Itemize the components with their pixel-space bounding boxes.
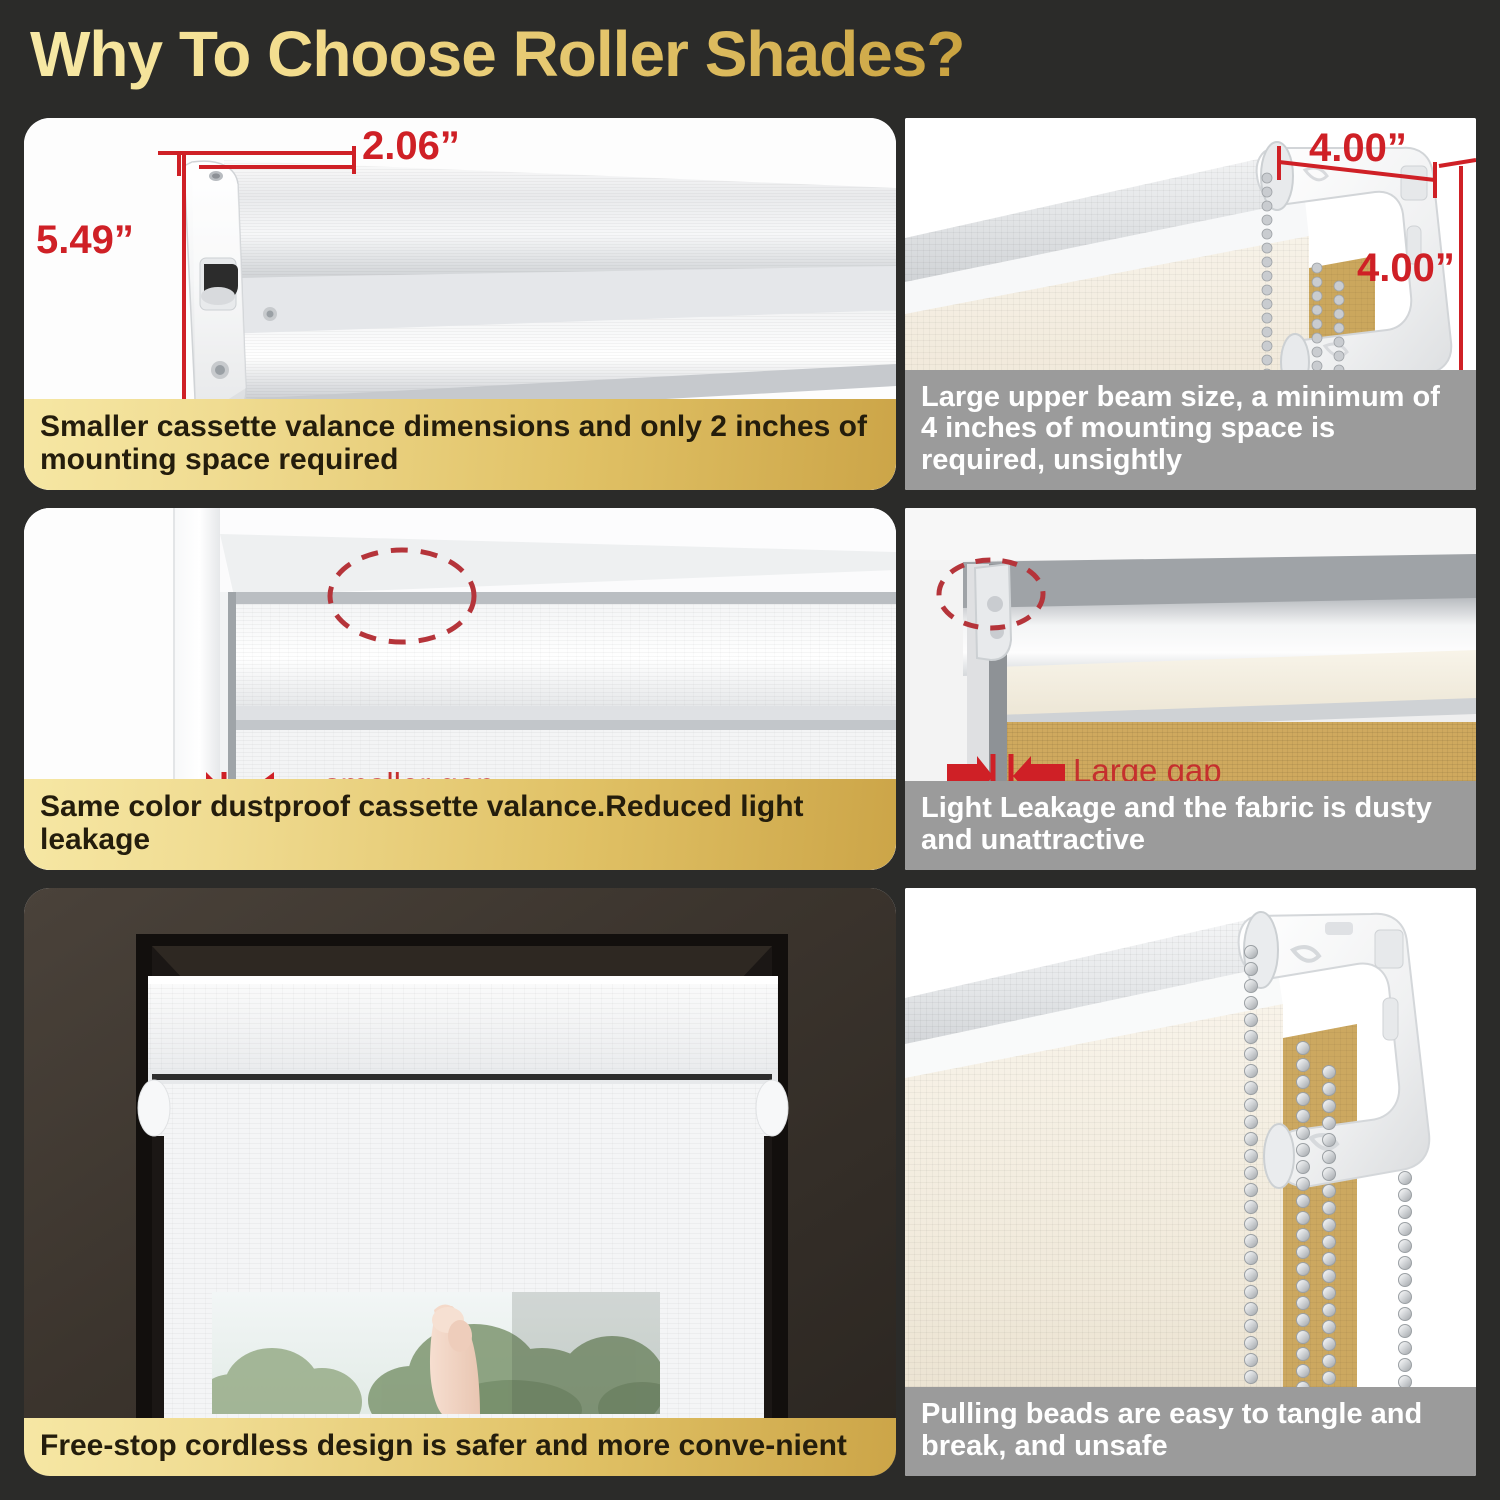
panel-middle-left: smaller gap Same color dustproof cassett… <box>24 508 896 870</box>
caption-bottom-left: Free-stop cordless design is safer and m… <box>24 1418 896 1476</box>
caption-top-left: Smaller cassette valance dimensions and … <box>24 399 896 490</box>
panel-bottom-right: Pulling beads are easy to tangle and bre… <box>905 888 1476 1476</box>
panel-top-right: 4.00” 4.00” Large upper beam size, a min… <box>905 118 1476 490</box>
dimension-label-width: 2.06” <box>362 124 460 169</box>
caption-bottom-right: Pulling beads are easy to tangle and bre… <box>905 1387 1476 1476</box>
dimension-label-width: 4.00” <box>1309 126 1407 171</box>
outdoor-scene-svg <box>212 1292 660 1414</box>
caption-middle-left: Same color dustproof cassette valance.Re… <box>24 779 896 870</box>
panel-middle-right: Large gap Light Leakage and the fabric i… <box>905 508 1476 870</box>
dimension-label-height: 4.00” <box>1357 246 1455 291</box>
panel-top-left: 2.06” 5.49” Smaller cassette valance dim… <box>24 118 896 490</box>
page-header: Why To Choose Roller Shades? <box>0 0 1500 108</box>
caption-middle-right: Light Leakage and the fabric is dusty an… <box>905 781 1476 870</box>
page-title: Why To Choose Roller Shades? <box>30 17 964 91</box>
window-glass-view <box>212 1292 660 1414</box>
caption-top-right: Large upper beam size, a minimum of 4 in… <box>905 370 1476 490</box>
dimension-label-height: 5.49” <box>36 218 134 263</box>
